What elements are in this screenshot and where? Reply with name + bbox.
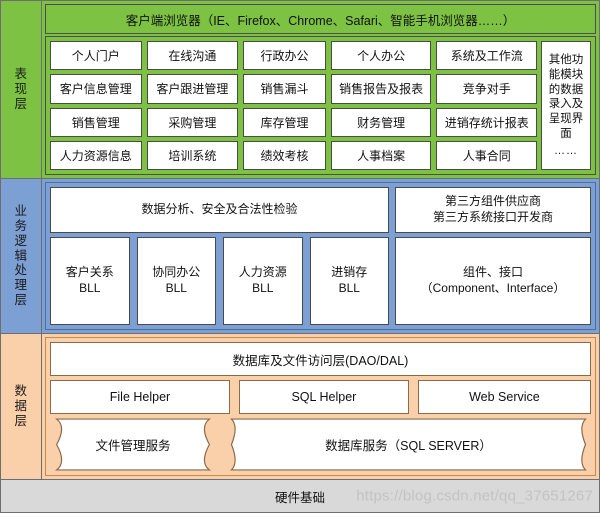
module-box[interactable]: 客户跟进管理 (147, 74, 239, 103)
presentation-modules-panel: 个人门户 在线沟通 行政办公 个人办公 系统及工作流 客户信息管理 客户跟进管理… (45, 36, 596, 175)
layer-label-char: 现 (14, 82, 27, 97)
third-party-vendor-line1: 第三方组件供应商 (433, 194, 553, 210)
layer-label-char: 数 (14, 384, 27, 399)
sql-helper-box[interactable]: SQL Helper (239, 380, 409, 414)
bll-module-name: 人力资源 (239, 265, 287, 281)
module-box[interactable]: 库存管理 (243, 108, 326, 137)
three-tier-architecture-diagram: 表 现 层 客户端浏览器（IE、Firefox、Chrome、Safari、智能… (0, 0, 600, 518)
bll-module-name: 协同办公 (152, 265, 200, 281)
module-box[interactable]: 绩效考核 (243, 141, 326, 170)
dao-row: 数据库及文件访问层(DAO/DAL) (50, 342, 591, 376)
other-modules-ellipsis: …… (554, 144, 578, 158)
module-box[interactable]: 采购管理 (147, 108, 239, 137)
module-box[interactable]: 个人门户 (50, 41, 142, 70)
module-box[interactable]: 人事合同 (436, 141, 537, 170)
presentation-module-grid: 个人门户 在线沟通 行政办公 个人办公 系统及工作流 客户信息管理 客户跟进管理… (50, 41, 537, 170)
other-modules-box[interactable]: 其他功 能模块 的数据 录入及 呈现界 面 …… (541, 41, 591, 170)
layer-label-char: 处 (14, 263, 27, 278)
module-box[interactable]: 人事档案 (331, 141, 432, 170)
other-modules-line: 其他功 (549, 53, 584, 68)
other-modules-line: 录入及 (549, 97, 584, 112)
module-box[interactable]: 销售漏斗 (243, 74, 326, 103)
file-management-service-label: 文件管理服务 (96, 435, 171, 454)
bll-module-grid: 客户关系 BLL 协同办公 BLL 人力资源 (50, 237, 389, 325)
layer-label-char: 层 (14, 293, 27, 308)
client-browser-bar: 客户端浏览器（IE、Firefox、Chrome、Safari、智能手机浏览器…… (45, 4, 596, 34)
third-party-vendor-box[interactable]: 第三方组件供应商 第三方系统接口开发商 (395, 187, 591, 233)
watermark-text: https://blog.csdn.net/qq_37651267 (356, 488, 593, 505)
component-interface-line1: 组件、接口 (421, 265, 566, 281)
business-logic-layer-body: 数据分析、安全及合法性检验 第三方组件供应商 第三方系统接口开发商 客户关系 (42, 179, 599, 333)
dao-dal-box[interactable]: 数据库及文件访问层(DAO/DAL) (50, 342, 591, 376)
layer-label-char: 层 (14, 97, 27, 112)
bll-module-name: 进销存 (331, 265, 367, 281)
helper-row: File Helper SQL Helper Web Service (50, 380, 591, 414)
layer-label-char: 业 (14, 204, 27, 219)
layer-label-char: 据 (14, 399, 27, 414)
data-layer-body: 数据库及文件访问层(DAO/DAL) File Helper SQL Helpe… (42, 334, 599, 479)
module-box[interactable]: 行政办公 (243, 41, 326, 70)
module-box[interactable]: 系统及工作流 (436, 41, 537, 70)
presentation-layer: 表 现 层 客户端浏览器（IE、Firefox、Chrome、Safari、智能… (0, 0, 600, 178)
business-logic-layer-label: 业 务 逻 辑 处 理 层 (1, 179, 42, 333)
module-box[interactable]: 财务管理 (331, 108, 432, 137)
database-service-label: 数据库服务（SQL SERVER） (325, 435, 492, 454)
client-browser-label: 客户端浏览器（IE、Firefox、Chrome、Safari、智能手机浏览器…… (126, 10, 516, 29)
module-box[interactable]: 客户信息管理 (50, 74, 142, 103)
module-box[interactable]: 个人办公 (331, 41, 432, 70)
module-box[interactable]: 进销存统计报表 (436, 108, 537, 137)
module-box[interactable]: 竞争对手 (436, 74, 537, 103)
hardware-foundation-label: 硬件基础 (275, 487, 325, 506)
file-helper-box[interactable]: File Helper (50, 380, 230, 414)
bll-module-suffix: BLL (152, 281, 200, 297)
web-service-box[interactable]: Web Service (418, 380, 591, 414)
module-box[interactable]: 人力资源信息 (50, 141, 142, 170)
service-row: 文件管理服务 数据库服务（SQL SERVER） (50, 418, 591, 471)
module-box[interactable]: 销售报告及报表 (331, 74, 432, 103)
data-analysis-security-box[interactable]: 数据分析、安全及合法性检验 (50, 187, 389, 233)
business-logic-layer: 业 务 逻 辑 处 理 层 数据分析、安全及合法性检验 第三方组件供应商 第三方… (0, 178, 600, 333)
bll-module-box[interactable]: 客户关系 BLL (50, 237, 130, 325)
business-top-row: 数据分析、安全及合法性检验 第三方组件供应商 第三方系统接口开发商 (50, 187, 591, 233)
bll-module-suffix: BLL (239, 281, 287, 297)
module-box[interactable]: 销售管理 (50, 108, 142, 137)
bll-module-suffix: BLL (331, 281, 367, 297)
presentation-layer-label: 表 现 层 (1, 1, 42, 178)
layer-label-char: 辑 (14, 249, 27, 264)
file-management-service-shape[interactable]: 文件管理服务 (50, 418, 216, 471)
other-modules-line: 呈现界 (549, 112, 584, 127)
bll-module-name: 客户关系 (66, 265, 114, 281)
other-modules-line: 能模块 (549, 68, 584, 83)
bll-module-box[interactable]: 进销存 BLL (310, 237, 390, 325)
other-modules-line: 面 (560, 127, 572, 142)
component-interface-box[interactable]: 组件、接口 （Component、Interface） (395, 237, 591, 325)
business-logic-panel: 数据分析、安全及合法性检验 第三方组件供应商 第三方系统接口开发商 客户关系 (45, 182, 596, 330)
layer-label-char: 理 (14, 278, 27, 293)
data-layer: 数 据 层 数据库及文件访问层(DAO/DAL) File Helper SQL… (0, 333, 600, 479)
data-layer-label: 数 据 层 (1, 334, 42, 479)
business-bottom-row: 客户关系 BLL 协同办公 BLL 人力资源 (50, 237, 591, 325)
bll-module-suffix: BLL (66, 281, 114, 297)
layer-label-char: 表 (14, 67, 27, 82)
third-party-vendor-line2: 第三方系统接口开发商 (433, 210, 553, 226)
module-box[interactable]: 在线沟通 (147, 41, 239, 70)
hardware-foundation-bar: 硬件基础 https://blog.csdn.net/qq_37651267 (0, 479, 600, 513)
layer-label-char: 逻 (14, 234, 27, 249)
bll-module-box[interactable]: 人力资源 BLL (223, 237, 303, 325)
component-interface-line2: （Component、Interface） (421, 281, 566, 297)
presentation-layer-body: 客户端浏览器（IE、Firefox、Chrome、Safari、智能手机浏览器…… (42, 1, 599, 178)
data-layer-panel: 数据库及文件访问层(DAO/DAL) File Helper SQL Helpe… (45, 337, 596, 476)
database-service-shape[interactable]: 数据库服务（SQL SERVER） (226, 418, 591, 471)
other-modules-line: 的数据 (549, 83, 584, 98)
bll-module-box[interactable]: 协同办公 BLL (137, 237, 217, 325)
layer-label-char: 层 (14, 414, 27, 429)
layer-label-char: 务 (14, 219, 27, 234)
module-box[interactable]: 培训系统 (147, 141, 239, 170)
